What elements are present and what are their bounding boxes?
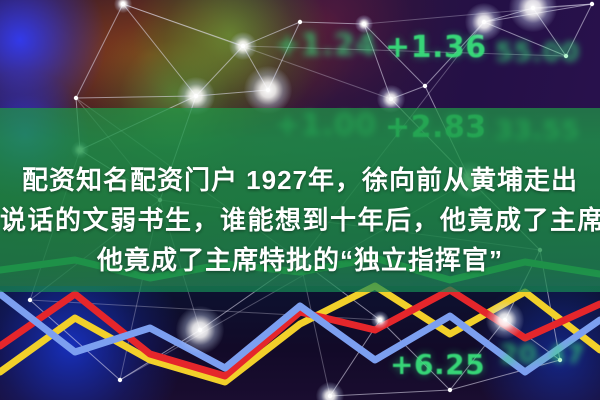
headline-text: 配资知名配资门户 1927年，徐向前从黄埔走出 说话的文弱书生，谁能想到十年后，… — [0, 160, 600, 280]
ticker-bottom-center: +6.25 — [390, 348, 485, 381]
headline-line-1: 配资知名配资门户 1927年，徐向前从黄埔走出 — [0, 160, 600, 200]
banner-image: +1.24+1.3655.00+1.00+2.8333.55+6.2520.47… — [0, 0, 600, 400]
headline-line-3: 他竟成了主席特批的“独立指挥官” — [0, 240, 600, 280]
ticker-top-left: +1.24 — [275, 28, 377, 63]
ticker-top-center: +1.36 — [385, 30, 487, 65]
ticker-top-right: 55.00 — [495, 38, 580, 68]
headline-line-2: 说话的文弱书生，谁能想到十年后，他竟成了主席特批 — [0, 200, 600, 240]
ticker-bottom-right: 20.47 — [500, 340, 585, 370]
